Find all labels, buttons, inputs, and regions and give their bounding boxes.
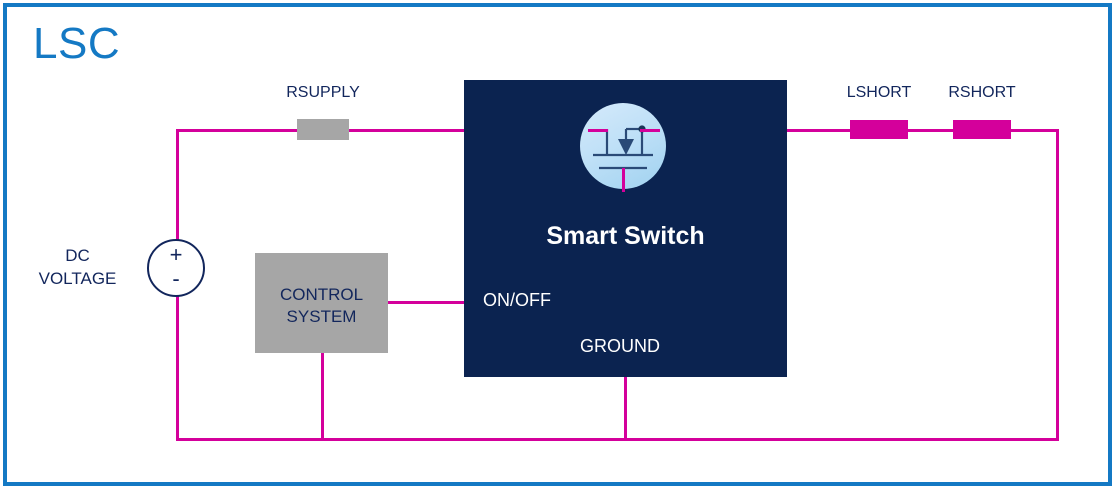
wire-mosfet-drain-stub: [588, 129, 608, 132]
diagram-canvas: LSC RSUPPLY LSHORT RSHORT DC VOLTAGE + -…: [0, 0, 1119, 493]
ground-pin-label: GROUND: [580, 337, 660, 355]
control-system-label: CONTROL SYSTEM: [255, 284, 388, 328]
wire-lshort-to-rshort: [906, 129, 955, 132]
wire-rshort-to-right-corner: [1009, 129, 1059, 132]
rshort-resistor: [953, 120, 1011, 139]
wire-switch-ground-drop: [624, 377, 627, 441]
wire-left-vertical-upper: [176, 129, 179, 241]
wire-left-vertical-lower: [176, 295, 179, 441]
wire-mosfet-source-stub: [640, 129, 660, 132]
wire-right-vertical: [1056, 129, 1059, 441]
lshort-inductor: [850, 120, 908, 139]
source-minus-terminal: -: [147, 268, 205, 290]
wire-bottom-rail: [176, 438, 1059, 441]
lshort-label: LSHORT: [824, 84, 934, 102]
rsupply-label: RSUPPLY: [260, 84, 386, 102]
smart-switch-title: Smart Switch: [464, 224, 787, 249]
rsupply-resistor: [297, 119, 349, 140]
dc-voltage-label: DC VOLTAGE: [20, 245, 135, 291]
wire-control-to-ground: [321, 352, 324, 441]
onoff-pin-label: ON/OFF: [483, 291, 551, 309]
wire-supply-top-left: [176, 129, 298, 132]
wire-control-to-onoff: [388, 301, 466, 304]
brand-title: LSC: [33, 22, 120, 66]
wire-mosfet-gate-stub: [622, 168, 625, 192]
rshort-label: RSHORT: [927, 84, 1037, 102]
source-plus-terminal: +: [147, 244, 205, 266]
